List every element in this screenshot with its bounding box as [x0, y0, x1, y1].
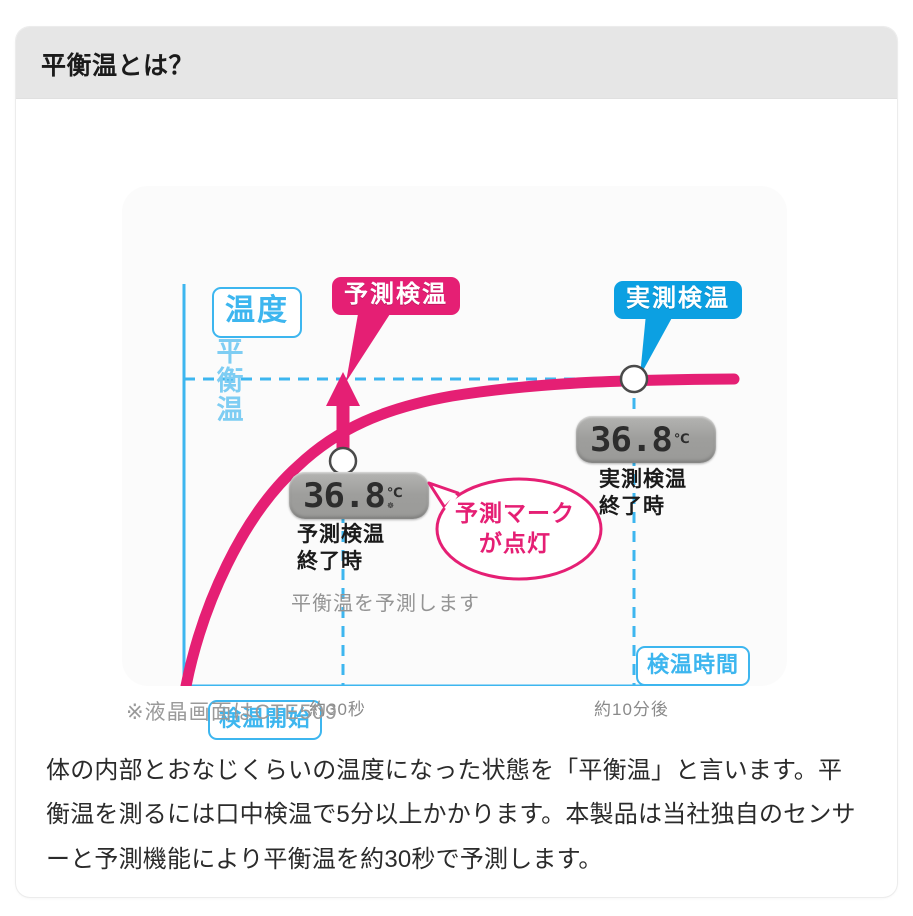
equilibrium-caption-char-1: 平	[215, 338, 245, 367]
equilibrium-temp-caption: 平 衡 温	[215, 338, 245, 425]
y-axis-title-box: 温度	[212, 287, 302, 338]
annotation-predictive-subtext: 平衡温を予測します	[291, 587, 480, 616]
actual-measurement-badge: 実測検温	[614, 281, 742, 319]
x-axis-title-box: 検温時間	[636, 646, 750, 686]
marker-actual	[621, 366, 647, 392]
lcd-unit-predictive: ℃ ☸	[387, 486, 403, 510]
annotation-predictive-line1: 予測検温	[297, 522, 385, 549]
celsius-icon: ℃	[674, 432, 690, 445]
celsius-icon: ℃	[387, 486, 403, 499]
lcd-display-actual: 36.8 ℃	[576, 416, 716, 463]
predictive-measurement-badge: 予測検温	[332, 277, 460, 315]
body-paragraph: 体の内部とおなじくらいの温度になった状態を「平衡温」と言います。平衡温を測るには…	[46, 749, 858, 882]
prediction-mark-icon: ☸	[387, 502, 394, 510]
figure-diagram: 温度 平 衡 温 予測検温 実測検温 36.8 ℃ ☸ 36.8 ℃	[16, 98, 897, 738]
x-tick-label-10min: 約10分後	[594, 695, 669, 720]
annotation-predictive: 予測検温 終了時	[297, 522, 385, 576]
lcd-display-predictive: 36.8 ℃ ☸	[289, 472, 429, 519]
speech-bubble-shape	[421, 471, 609, 586]
card-header: 平衡温とは？	[16, 27, 897, 99]
prediction-mark-speech-bubble: 予測マーク が点灯	[421, 471, 609, 586]
annotation-actual: 実測検温 終了時	[599, 467, 687, 521]
actual-badge-pointer	[640, 314, 674, 376]
page-title: 平衡温とは？	[41, 46, 194, 82]
lcd-unit-actual: ℃	[674, 432, 690, 445]
figure-footnote: ※液晶画面はCTE509	[126, 696, 338, 726]
lcd-value-actual: 36.8	[590, 420, 672, 460]
equilibrium-caption-char-3: 温	[215, 396, 245, 425]
equilibrium-caption-char-2: 衡	[215, 367, 245, 396]
predictive-badge-pointer	[346, 314, 390, 382]
lcd-value-predictive: 36.8	[303, 476, 385, 516]
annotation-actual-line2: 終了時	[599, 494, 687, 521]
annotation-actual-line1: 実測検温	[599, 467, 687, 494]
marker-predictive	[330, 448, 356, 474]
content-card: 平衡温とは？	[16, 27, 897, 897]
annotation-predictive-line2: 終了時	[297, 549, 385, 576]
